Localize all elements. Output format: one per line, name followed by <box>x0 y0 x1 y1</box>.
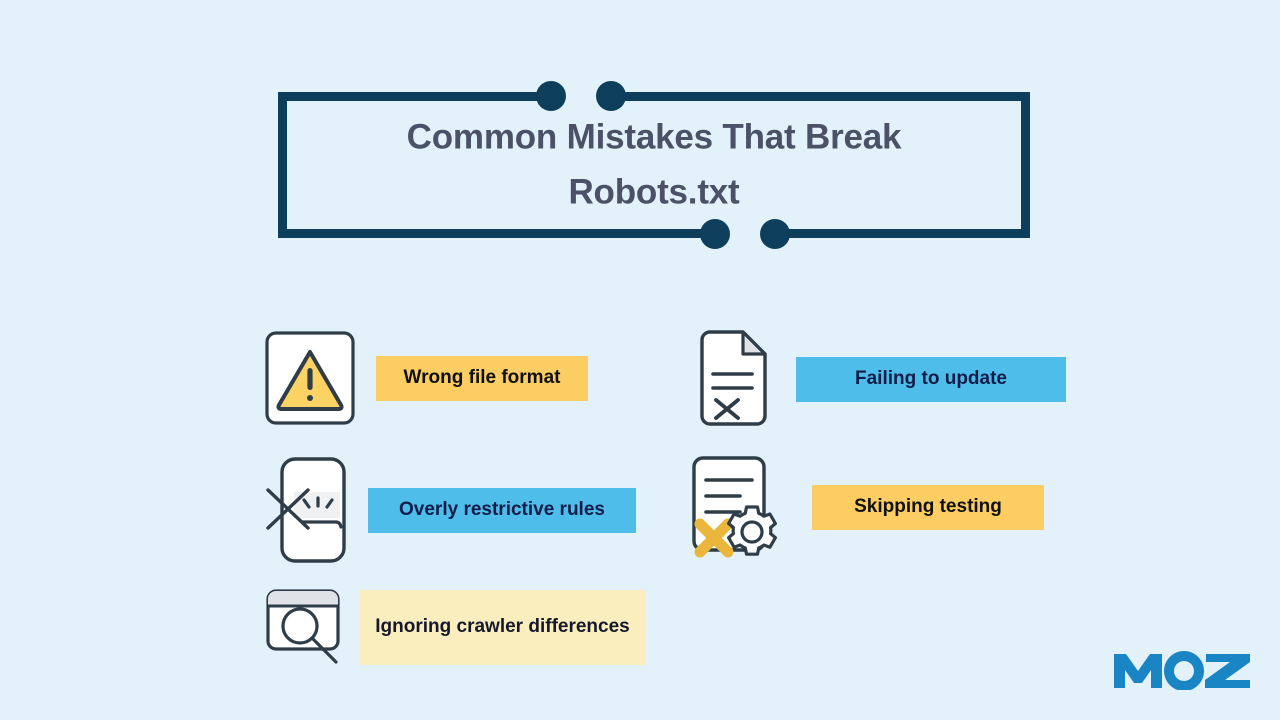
browser-search-icon <box>260 586 356 668</box>
mistake-item-wrong-file-format: Wrong file format <box>264 330 588 426</box>
mistake-label-failing-update: Failing to update <box>796 357 1066 402</box>
frame-edge-top-left <box>278 92 550 101</box>
mistake-label-wrong-file-format: Wrong file format <box>376 356 588 401</box>
moz-logo <box>1112 648 1254 690</box>
page-title: Common Mistakes That Break Robots.txt <box>308 110 1000 221</box>
document-x-icon <box>694 330 774 428</box>
mistake-item-overly-restrictive: Overly restrictive rules <box>264 454 636 566</box>
mistake-label-skipping-testing: Skipping testing <box>812 485 1044 530</box>
frame-edge-left <box>278 92 287 238</box>
document-gear-x-icon <box>688 452 782 562</box>
warning-triangle-icon <box>264 330 356 426</box>
blocked-page-icon <box>264 454 356 566</box>
page-title-line-2: Robots.txt <box>308 165 1000 220</box>
frame-edge-bottom-left <box>278 229 715 238</box>
frame-edge-top-right <box>612 92 1030 101</box>
mistake-item-failing-update: Failing to update <box>694 330 1066 428</box>
frame-edge-right <box>1021 92 1030 238</box>
frame-dot-bottom-left <box>700 219 730 249</box>
mistake-label-overly-restrictive: Overly restrictive rules <box>368 488 636 533</box>
frame-dot-top-left <box>536 81 566 111</box>
title-frame: Common Mistakes That Break Robots.txt <box>278 92 1030 238</box>
frame-dot-top-right <box>596 81 626 111</box>
mistake-item-skipping-testing: Skipping testing <box>688 452 1044 562</box>
page-title-line-1: Common Mistakes That Break <box>308 110 1000 165</box>
mistake-label-ignoring-crawler: Ignoring crawler differences <box>360 590 645 665</box>
frame-edge-bottom-right <box>777 229 1030 238</box>
frame-dot-bottom-right <box>760 219 790 249</box>
mistake-item-ignoring-crawler: Ignoring crawler differences <box>260 586 645 668</box>
